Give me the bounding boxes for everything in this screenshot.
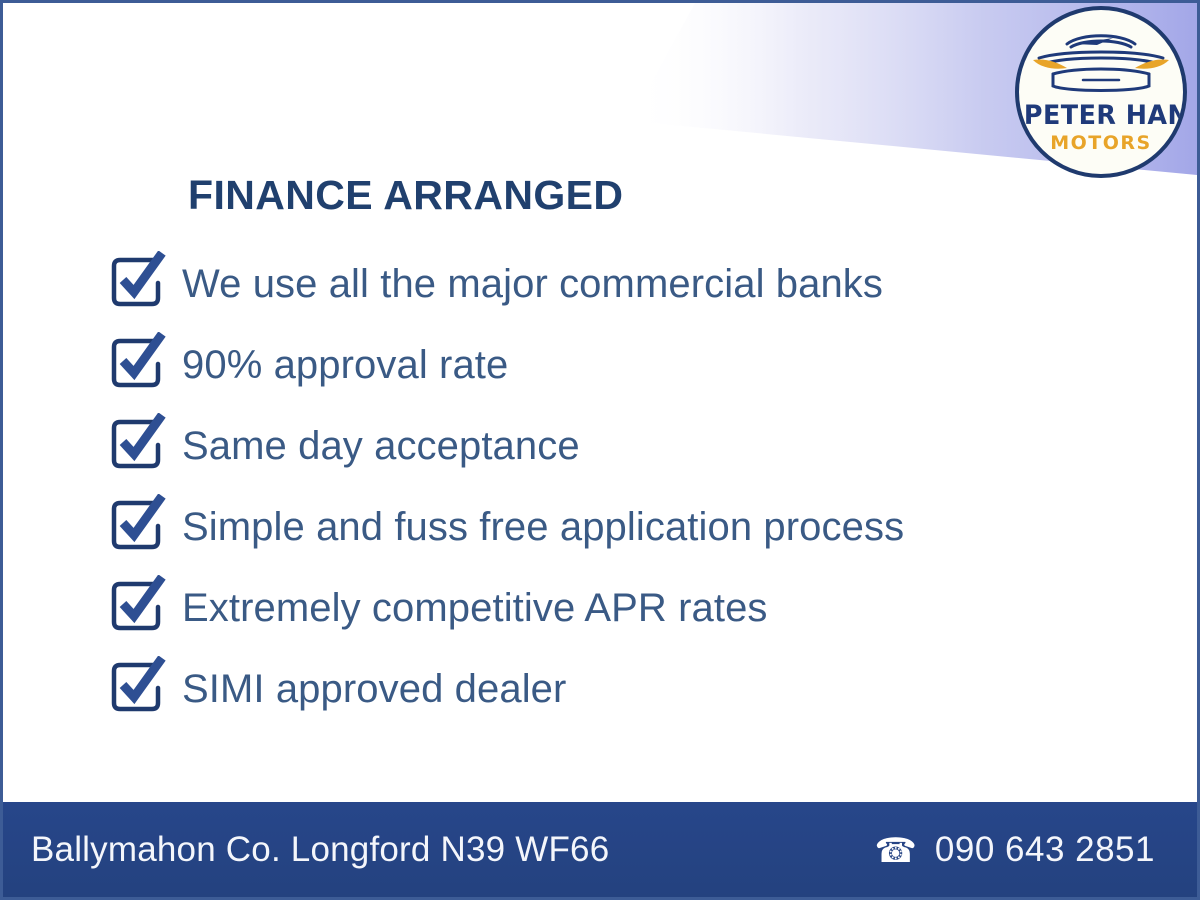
- checkbox-checked-icon: [106, 656, 168, 718]
- checkbox-checked-icon: [106, 494, 168, 556]
- list-item-label: SIMI approved dealer: [182, 669, 566, 709]
- checkbox-checked-icon: [106, 575, 168, 637]
- footer-phone-group[interactable]: ☎ 090 643 2851: [875, 830, 1155, 870]
- checkbox-checked-icon: [106, 332, 168, 394]
- finance-arranged-poster: PETER HANLEY MOTORS FINANCE ARRANGED We …: [0, 0, 1200, 900]
- list-item-label: Same day acceptance: [182, 426, 580, 466]
- list-item-label: Simple and fuss free application process: [182, 507, 904, 547]
- footer-address: Ballymahon Co. Longford N39 WF66: [31, 830, 609, 870]
- list-item: 90% approval rate: [106, 324, 904, 405]
- telephone-icon: ☎: [875, 834, 917, 868]
- checkbox-checked-icon: [106, 413, 168, 475]
- company-logo-badge: PETER HANLEY MOTORS: [1015, 6, 1187, 178]
- list-item-label: Extremely competitive APR rates: [182, 588, 768, 628]
- list-item: Extremely competitive APR rates: [106, 567, 904, 648]
- logo-company-name: PETER HANLEY: [1024, 102, 1178, 129]
- checkbox-checked-icon: [106, 251, 168, 313]
- list-item: Simple and fuss free application process: [106, 486, 904, 567]
- features-list: We use all the major commercial banks 90…: [106, 243, 904, 729]
- list-item: Same day acceptance: [106, 405, 904, 486]
- list-item: We use all the major commercial banks: [106, 243, 904, 324]
- list-item-label: 90% approval rate: [182, 345, 508, 385]
- footer-phone-number[interactable]: 090 643 2851: [935, 830, 1155, 870]
- page-title: FINANCE ARRANGED: [188, 172, 623, 219]
- logo-company-subtitle: MOTORS: [1019, 134, 1183, 153]
- footer-bar: Ballymahon Co. Longford N39 WF66 ☎ 090 6…: [3, 802, 1197, 897]
- list-item: SIMI approved dealer: [106, 648, 904, 729]
- car-front-icon: [1027, 24, 1175, 98]
- list-item-label: We use all the major commercial banks: [182, 264, 883, 304]
